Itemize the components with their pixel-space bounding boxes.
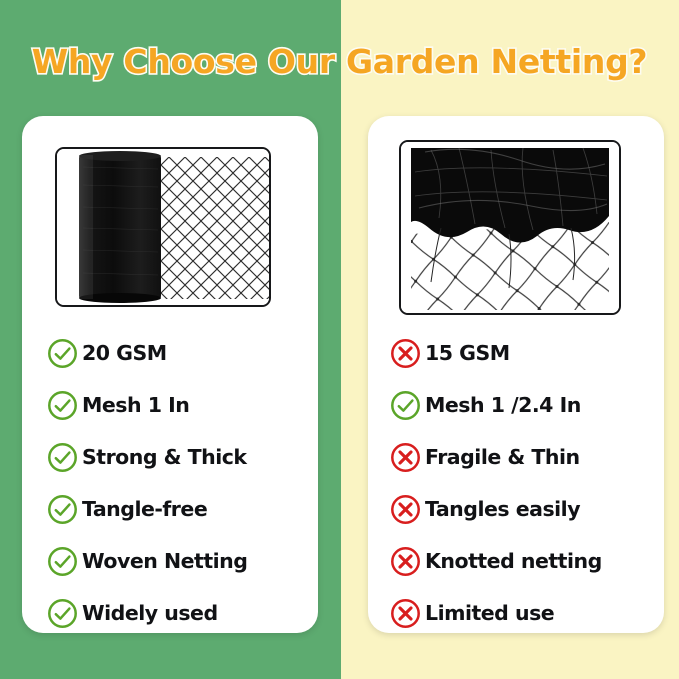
feature-row: Strong & Thick [47,431,312,483]
right-comparison-card: 15 GSM Mesh 1 /2.4 In [368,116,664,633]
page-title: Why Choose Our Garden Netting? [0,42,679,81]
feature-row: Widely used [47,587,312,639]
tangled-netting-photo [401,142,619,313]
check-icon [390,390,421,421]
check-icon [47,442,78,473]
feature-row: Limited use [390,587,655,639]
left-feature-list: 20 GSM Mesh 1 In Stron [47,327,312,639]
right-photo-frame [399,140,621,315]
feature-row: Tangle-free [47,483,312,535]
garden-netting-roll-photo [57,149,269,305]
left-comparison-card: 20 GSM Mesh 1 In Stron [22,116,318,633]
cross-icon [390,442,421,473]
feature-label: Mesh 1 /2.4 In [425,393,581,417]
feature-row: 20 GSM [47,327,312,379]
feature-label: Widely used [82,601,218,625]
right-feature-list: 15 GSM Mesh 1 /2.4 In [390,327,655,639]
cross-icon [390,598,421,629]
cross-icon [390,494,421,525]
feature-row: 15 GSM [390,327,655,379]
cross-icon [390,338,421,369]
check-icon [47,546,78,577]
feature-label: Tangle-free [82,497,207,521]
feature-label: 20 GSM [82,341,167,365]
feature-row: Knotted netting [390,535,655,587]
check-icon [47,598,78,629]
check-icon [47,390,78,421]
feature-row: Mesh 1 In [47,379,312,431]
left-photo-frame [55,147,271,307]
feature-label: Woven Netting [82,549,247,573]
feature-row: Fragile & Thin [390,431,655,483]
check-icon [47,494,78,525]
feature-label: Limited use [425,601,554,625]
feature-label: Tangles easily [425,497,580,521]
feature-label: Strong & Thick [82,445,247,469]
feature-label: Fragile & Thin [425,445,580,469]
cross-icon [390,546,421,577]
feature-label: 15 GSM [425,341,510,365]
feature-label: Knotted netting [425,549,602,573]
feature-row: Woven Netting [47,535,312,587]
feature-row: Mesh 1 /2.4 In [390,379,655,431]
feature-label: Mesh 1 In [82,393,189,417]
feature-row: Tangles easily [390,483,655,535]
infographic-root: Why Choose Our Garden Netting? [0,0,679,679]
check-icon [47,338,78,369]
